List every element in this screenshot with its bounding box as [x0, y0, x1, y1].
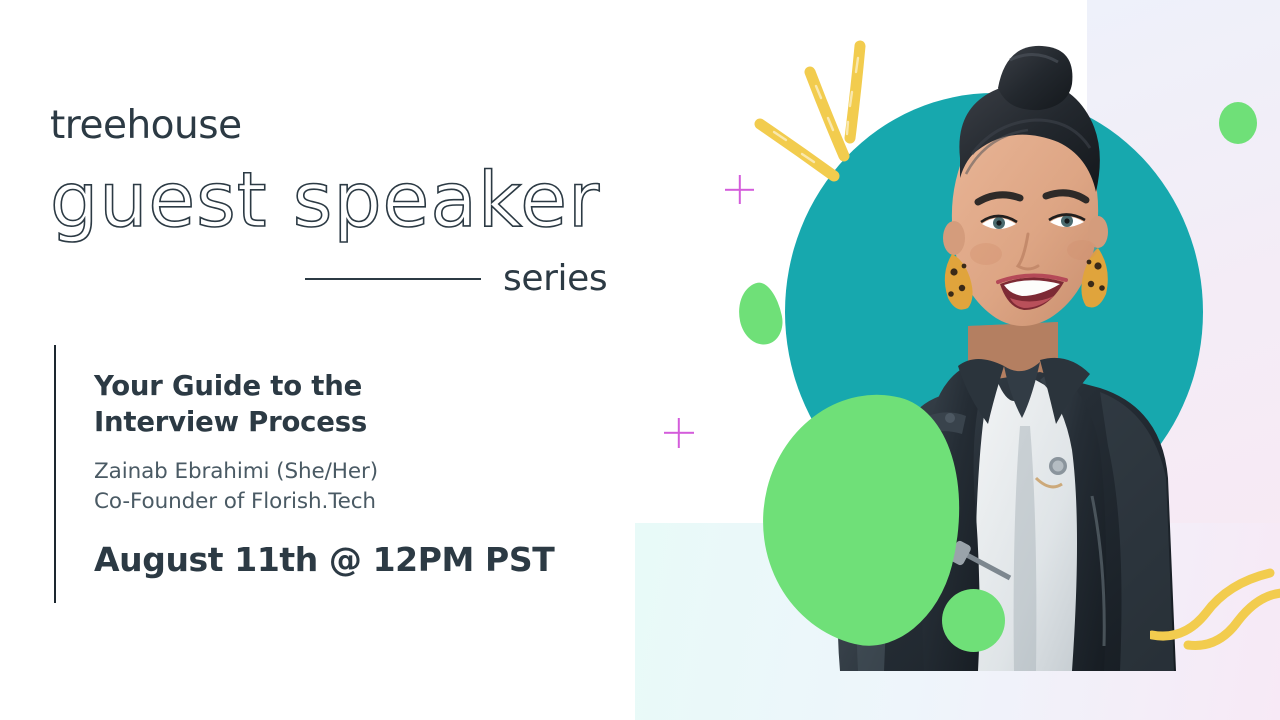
series-row: series [305, 256, 625, 302]
talk-title: Your Guide to the Interview Process [94, 368, 424, 441]
plus-mark-lower-icon [664, 418, 694, 448]
green-blob-small [733, 279, 787, 348]
talk-title-line2: Interview Process [94, 406, 367, 438]
plus-mark-upper-icon [725, 175, 754, 204]
treehouse-wordmark: treehouse [50, 106, 242, 145]
series-divider-rule [305, 278, 481, 280]
yellow-squiggle-lines-icon [1150, 565, 1280, 675]
yellow-sparkle-strokes-icon [752, 38, 892, 188]
event-details-block: Your Guide to the Interview Process Zain… [54, 345, 554, 603]
speaker-role: Co-Founder of Florish.Tech [94, 487, 554, 518]
speaker-name: Zainab Ebrahimi (She/Her) [94, 457, 554, 488]
green-circle-bottom [942, 589, 1005, 652]
event-datetime: August 11th @ 12PM PST [94, 543, 554, 576]
slide-canvas: treehouse guest speaker series Your Guid… [0, 0, 1280, 720]
svg-text:guest speaker: guest speaker [50, 158, 600, 244]
guest-speaker-headline: guest speaker [42, 158, 662, 248]
series-label: series [503, 261, 607, 297]
talk-title-line1: Your Guide to the [94, 370, 362, 402]
green-oval-topright [1219, 102, 1257, 144]
